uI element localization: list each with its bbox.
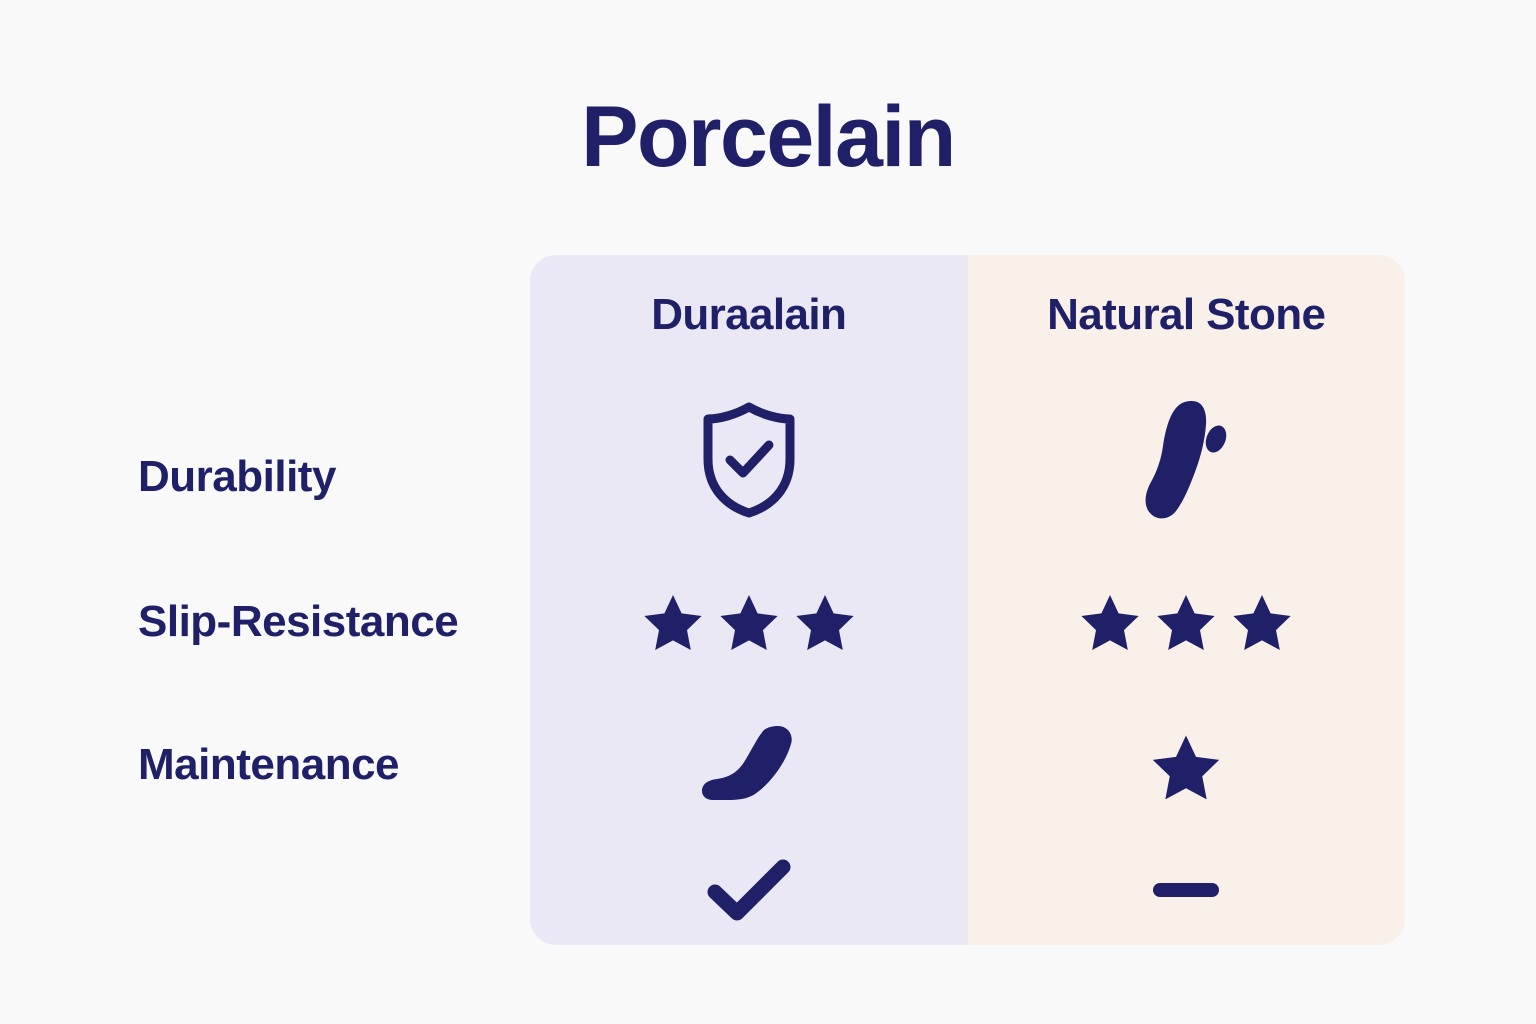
cell-duraalain-maintenance xyxy=(530,695,968,840)
star-icon xyxy=(1155,593,1217,653)
column-header-natural-stone: Natural Stone xyxy=(1047,255,1325,375)
cell-natural-stone-extra xyxy=(968,840,1406,945)
stone-blob-icon xyxy=(1143,398,1229,527)
row-label-slip-resistance: Slip-Resistance xyxy=(138,597,534,647)
star-icon xyxy=(718,593,780,653)
row-label-durability: Durability xyxy=(138,452,534,502)
star-icon xyxy=(1231,593,1293,653)
cell-natural-stone-slip-resistance xyxy=(968,550,1406,695)
comparison-panel: Duraalain xyxy=(530,255,1405,945)
cell-duraalain-extra xyxy=(530,840,968,945)
dash-icon xyxy=(1142,875,1230,910)
rating-stars-natural-stone-maintenance xyxy=(1150,733,1222,803)
column-header-duraalain: Duraalain xyxy=(651,255,846,375)
mop-swoosh-icon xyxy=(701,721,797,814)
star-icon xyxy=(642,593,704,653)
page-title: Porcelain xyxy=(0,92,1536,182)
rating-stars-natural-stone-slip xyxy=(1079,593,1293,653)
cell-natural-stone-durability xyxy=(968,375,1406,550)
comparison-column-natural-stone: Natural Stone xyxy=(968,255,1406,945)
cell-duraalain-slip-resistance xyxy=(530,550,968,695)
shield-check-icon xyxy=(697,401,801,524)
comparison-column-duraalain: Duraalain xyxy=(530,255,968,945)
row-label-maintenance: Maintenance xyxy=(138,740,534,790)
star-icon xyxy=(794,593,856,653)
check-icon xyxy=(705,857,793,928)
rating-stars-duraalain-slip xyxy=(642,593,856,653)
star-icon xyxy=(1079,593,1141,653)
star-icon xyxy=(1150,733,1222,803)
cell-duraalain-durability xyxy=(530,375,968,550)
cell-natural-stone-maintenance xyxy=(968,695,1406,840)
